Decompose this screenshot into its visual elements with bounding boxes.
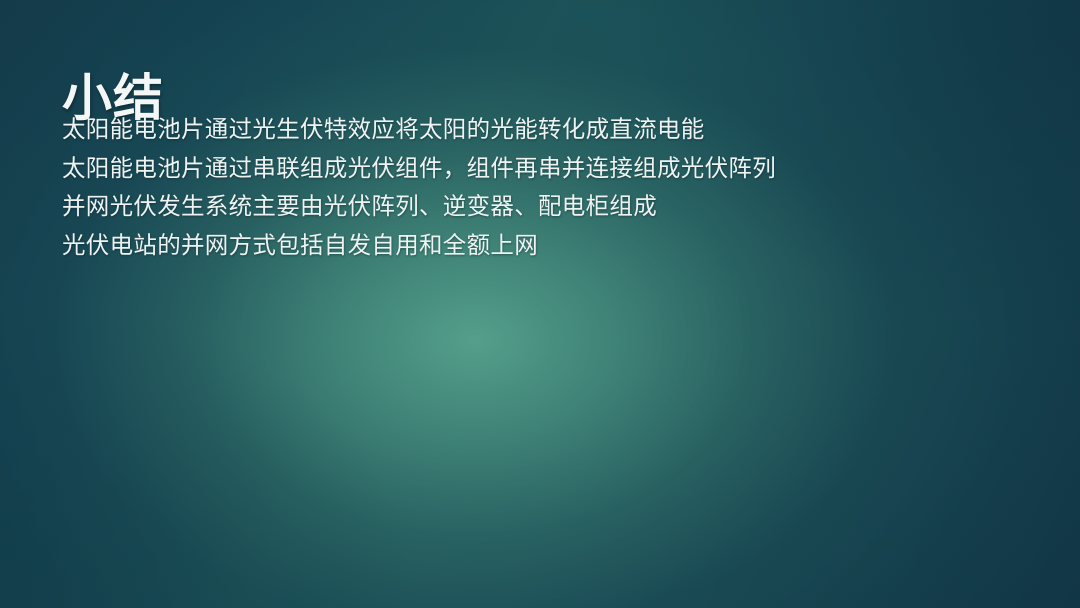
presentation-slide: 小结 太阳能电池片通过光生伏特效应将太阳的光能转化成直流电能 太阳能电池片通过串… bbox=[0, 0, 1080, 608]
slide-body-line: 太阳能电池片通过光生伏特效应将太阳的光能转化成直流电能 bbox=[62, 111, 776, 150]
slide-body-list: 太阳能电池片通过光生伏特效应将太阳的光能转化成直流电能 太阳能电池片通过串联组成… bbox=[62, 111, 776, 265]
slide-body-line: 光伏电站的并网方式包括自发自用和全额上网 bbox=[62, 227, 776, 266]
slide-body-line: 并网光伏发生系统主要由光伏阵列、逆变器、配电柜组成 bbox=[62, 188, 776, 227]
slide-content: 小结 太阳能电池片通过光生伏特效应将太阳的光能转化成直流电能 太阳能电池片通过串… bbox=[0, 0, 1080, 608]
slide-body-line: 太阳能电池片通过串联组成光伏组件，组件再串并连接组成光伏阵列 bbox=[62, 150, 776, 189]
